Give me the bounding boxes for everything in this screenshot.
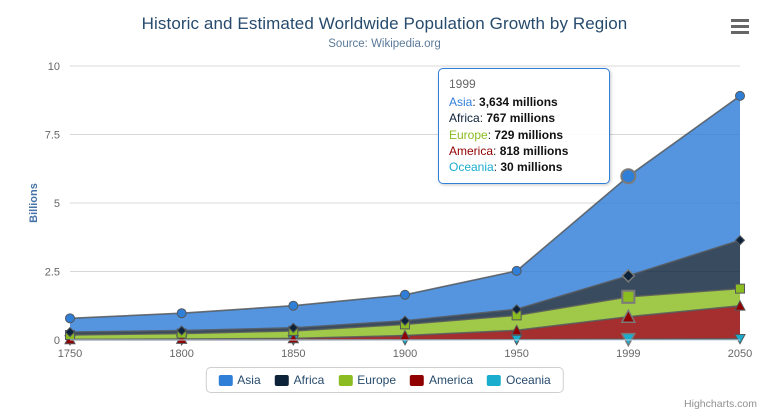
highcharts-chart: Historic and Estimated Worldwide Populat…: [0, 0, 769, 416]
chart-svg: 02.557.5101750180018501900195019992050: [0, 0, 769, 416]
x-tick-label: 1850: [281, 348, 305, 360]
x-tick-label: 1999: [616, 348, 640, 360]
legend-swatch-icon: [487, 375, 501, 386]
legend-label: Europe: [357, 373, 396, 387]
data-point-asia[interactable]: [177, 309, 186, 318]
legend-swatch-icon: [275, 375, 289, 386]
y-tick-label: 0: [54, 335, 60, 347]
legend-swatch-icon: [338, 375, 352, 386]
legend-label: Asia: [237, 373, 260, 387]
legend-swatch-icon: [218, 375, 232, 386]
data-point-asia[interactable]: [512, 266, 521, 275]
y-tick-label: 10: [48, 61, 60, 73]
legend-item-oceania[interactable]: Oceania: [487, 373, 551, 387]
data-point-asia[interactable]: [66, 314, 75, 323]
x-tick-label: 1800: [169, 348, 193, 360]
legend-item-america[interactable]: America: [410, 373, 473, 387]
data-point-asia[interactable]: [401, 290, 410, 299]
y-tick-label: 2.5: [45, 267, 60, 279]
chart-legend: AsiaAfricaEuropeAmericaOceania: [205, 367, 563, 393]
data-point-asia[interactable]: [621, 169, 635, 183]
legend-label: Africa: [294, 373, 325, 387]
x-tick-label: 2050: [728, 348, 752, 360]
legend-item-africa[interactable]: Africa: [275, 373, 325, 387]
credits-link[interactable]: Highcharts.com: [684, 398, 757, 410]
x-tick-label: 1900: [393, 348, 417, 360]
y-axis-title: Billions: [28, 183, 40, 223]
x-tick-label: 1950: [504, 348, 528, 360]
y-tick-label: 5: [54, 198, 60, 210]
data-point-asia[interactable]: [289, 301, 298, 310]
legend-label: Oceania: [506, 373, 551, 387]
legend-item-asia[interactable]: Asia: [218, 373, 260, 387]
data-point-asia[interactable]: [736, 91, 745, 100]
legend-label: America: [429, 373, 473, 387]
y-tick-label: 7.5: [45, 130, 60, 142]
data-point-europe[interactable]: [736, 284, 745, 293]
data-point-europe[interactable]: [622, 291, 634, 303]
legend-swatch-icon: [410, 375, 424, 386]
x-tick-label: 1750: [58, 348, 82, 360]
plot-area: 02.557.5101750180018501900195019992050: [0, 0, 769, 416]
legend-item-europe[interactable]: Europe: [338, 373, 396, 387]
